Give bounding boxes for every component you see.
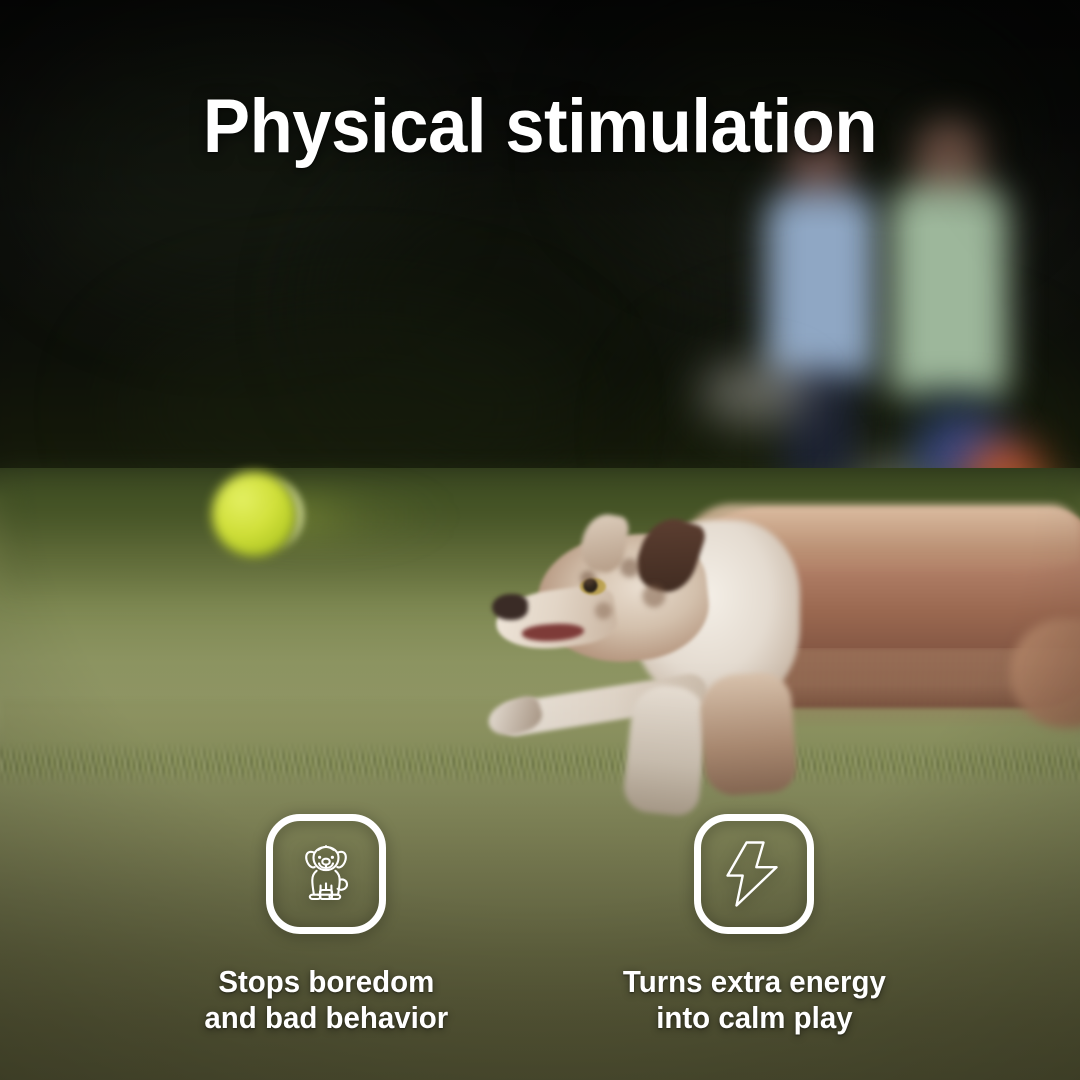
feature-item-stops-boredom: Stops boredom and bad behavior (146, 814, 506, 1036)
page-title: Physical stimulation (38, 87, 1042, 168)
feature-label: Turns extra energy into calm play (623, 964, 886, 1036)
dog-front-paw (484, 692, 546, 741)
dog-icon (266, 814, 386, 934)
poster-canvas: Physical stimulation (0, 0, 1080, 1080)
person-torso (890, 184, 1008, 398)
feature-list: Stops boredom and bad behavior Turns ext… (0, 814, 1080, 1036)
person-torso (766, 190, 876, 380)
dog-rear-leg (698, 671, 798, 797)
lightning-bolt-icon (694, 814, 814, 934)
feature-item-extra-energy: Turns extra energy into calm play (574, 814, 934, 1036)
running-dog (470, 498, 1080, 818)
feature-label: Stops boredom and bad behavior (204, 964, 448, 1036)
dog-nose (492, 594, 528, 620)
background-blob-grey (700, 362, 810, 424)
dog-front-leg-under (622, 682, 711, 817)
dog-merle-speckles (566, 556, 676, 630)
